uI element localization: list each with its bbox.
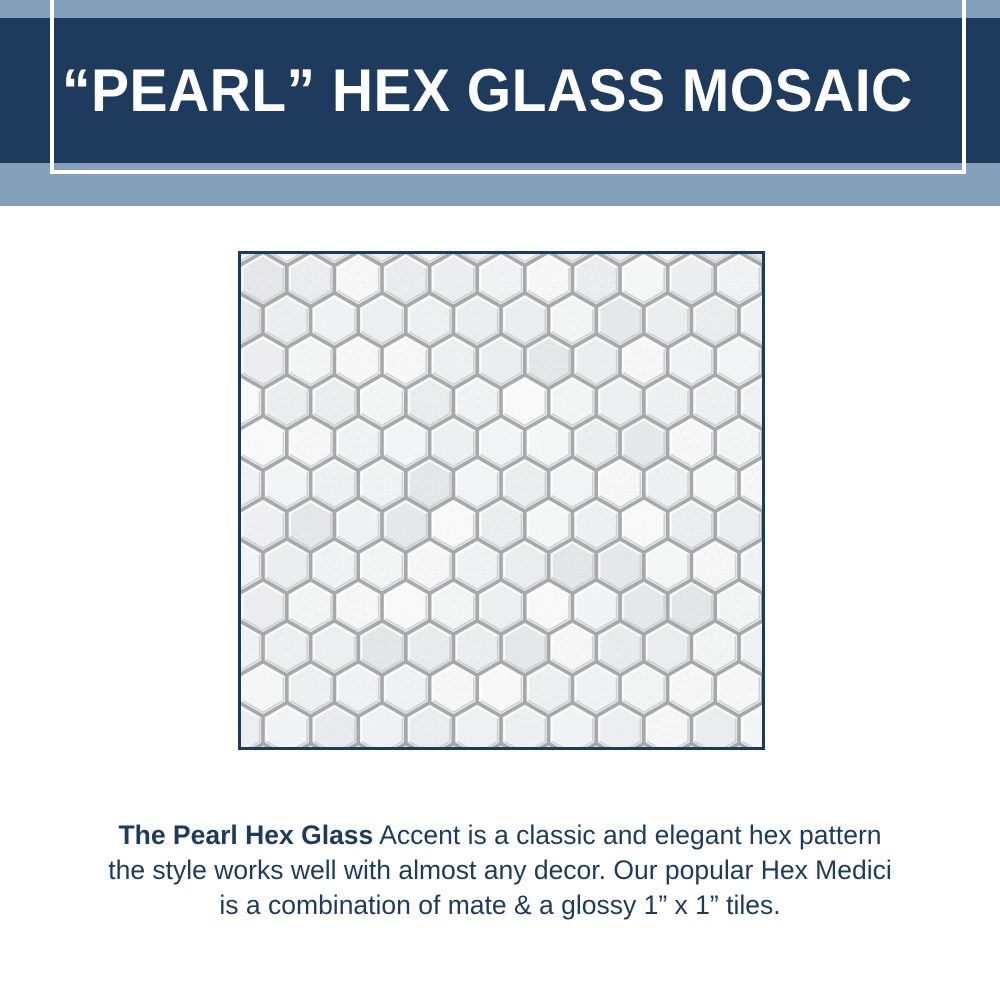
slide-canvas: “PEARL” HEX GLASS MOSAIC [0,0,1000,1000]
header-bottom-accent-band [0,163,1000,206]
product-description: The Pearl Hex Glass Accent is a classic … [100,818,900,923]
hex-mosaic-tile-image [241,254,762,747]
product-image-frame [238,251,765,750]
header-banner: “PEARL” HEX GLASS MOSAIC [0,0,1000,206]
product-description-lead: The Pearl Hex Glass [118,820,373,850]
page-title: “PEARL” HEX GLASS MOSAIC [62,56,908,126]
header-top-accent-band [0,0,1000,18]
